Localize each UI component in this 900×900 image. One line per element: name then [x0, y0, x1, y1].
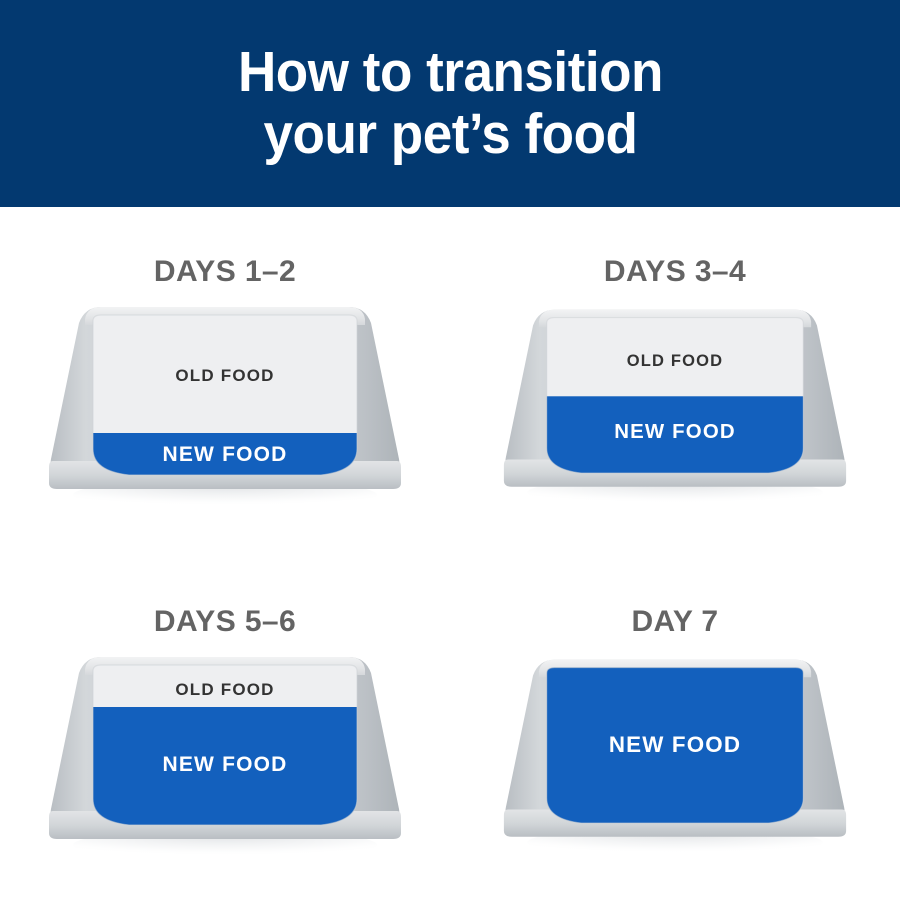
stage-label-days-5-6: DAYS 5–6: [154, 605, 296, 639]
stage-label-day-7: DAY 7: [631, 605, 718, 639]
bowl-days-3-4: OLD FOOD NEW FOOD: [500, 299, 850, 514]
new-food-label-1: NEW FOOD: [162, 443, 287, 466]
bowl-cavity-2: [539, 316, 811, 479]
stage-days-1-2: DAYS 1–2: [0, 207, 450, 553]
bowl-days-1-2: OLD FOOD NEW FOOD: [45, 299, 405, 514]
old-food-label-2: OLD FOOD: [627, 351, 724, 370]
stage-day-7: DAY 7: [450, 553, 900, 900]
bowl-illustration-1: OLD FOOD NEW FOOD: [45, 299, 405, 514]
new-food-label-3: NEW FOOD: [162, 753, 287, 776]
new-food-label-2: NEW FOOD: [614, 421, 736, 443]
transition-stage-grid: DAYS 1–2: [0, 207, 900, 900]
stage-days-3-4: DAYS 3–4: [450, 207, 900, 553]
old-food-label-1: OLD FOOD: [175, 366, 274, 385]
bowl-illustration-3: OLD FOOD NEW FOOD: [45, 649, 405, 864]
old-food-label-3: OLD FOOD: [175, 680, 274, 699]
bowl-days-5-6: OLD FOOD NEW FOOD: [45, 649, 405, 864]
stage-label-days-3-4: DAYS 3–4: [604, 255, 746, 289]
bowl-day-7: NEW FOOD: [500, 649, 850, 864]
stage-label-days-1-2: DAYS 1–2: [154, 255, 296, 289]
bowl-illustration-2: OLD FOOD NEW FOOD: [500, 299, 850, 514]
bowl-illustration-4: NEW FOOD: [500, 649, 850, 864]
infographic-page: How to transition your pet’s food DAYS 1…: [0, 0, 900, 900]
stage-days-5-6: DAYS 5–6: [0, 553, 450, 900]
header-banner: How to transition your pet’s food: [0, 0, 900, 207]
page-title: How to transition your pet’s food: [210, 42, 691, 165]
new-food-label-4: NEW FOOD: [609, 732, 741, 757]
